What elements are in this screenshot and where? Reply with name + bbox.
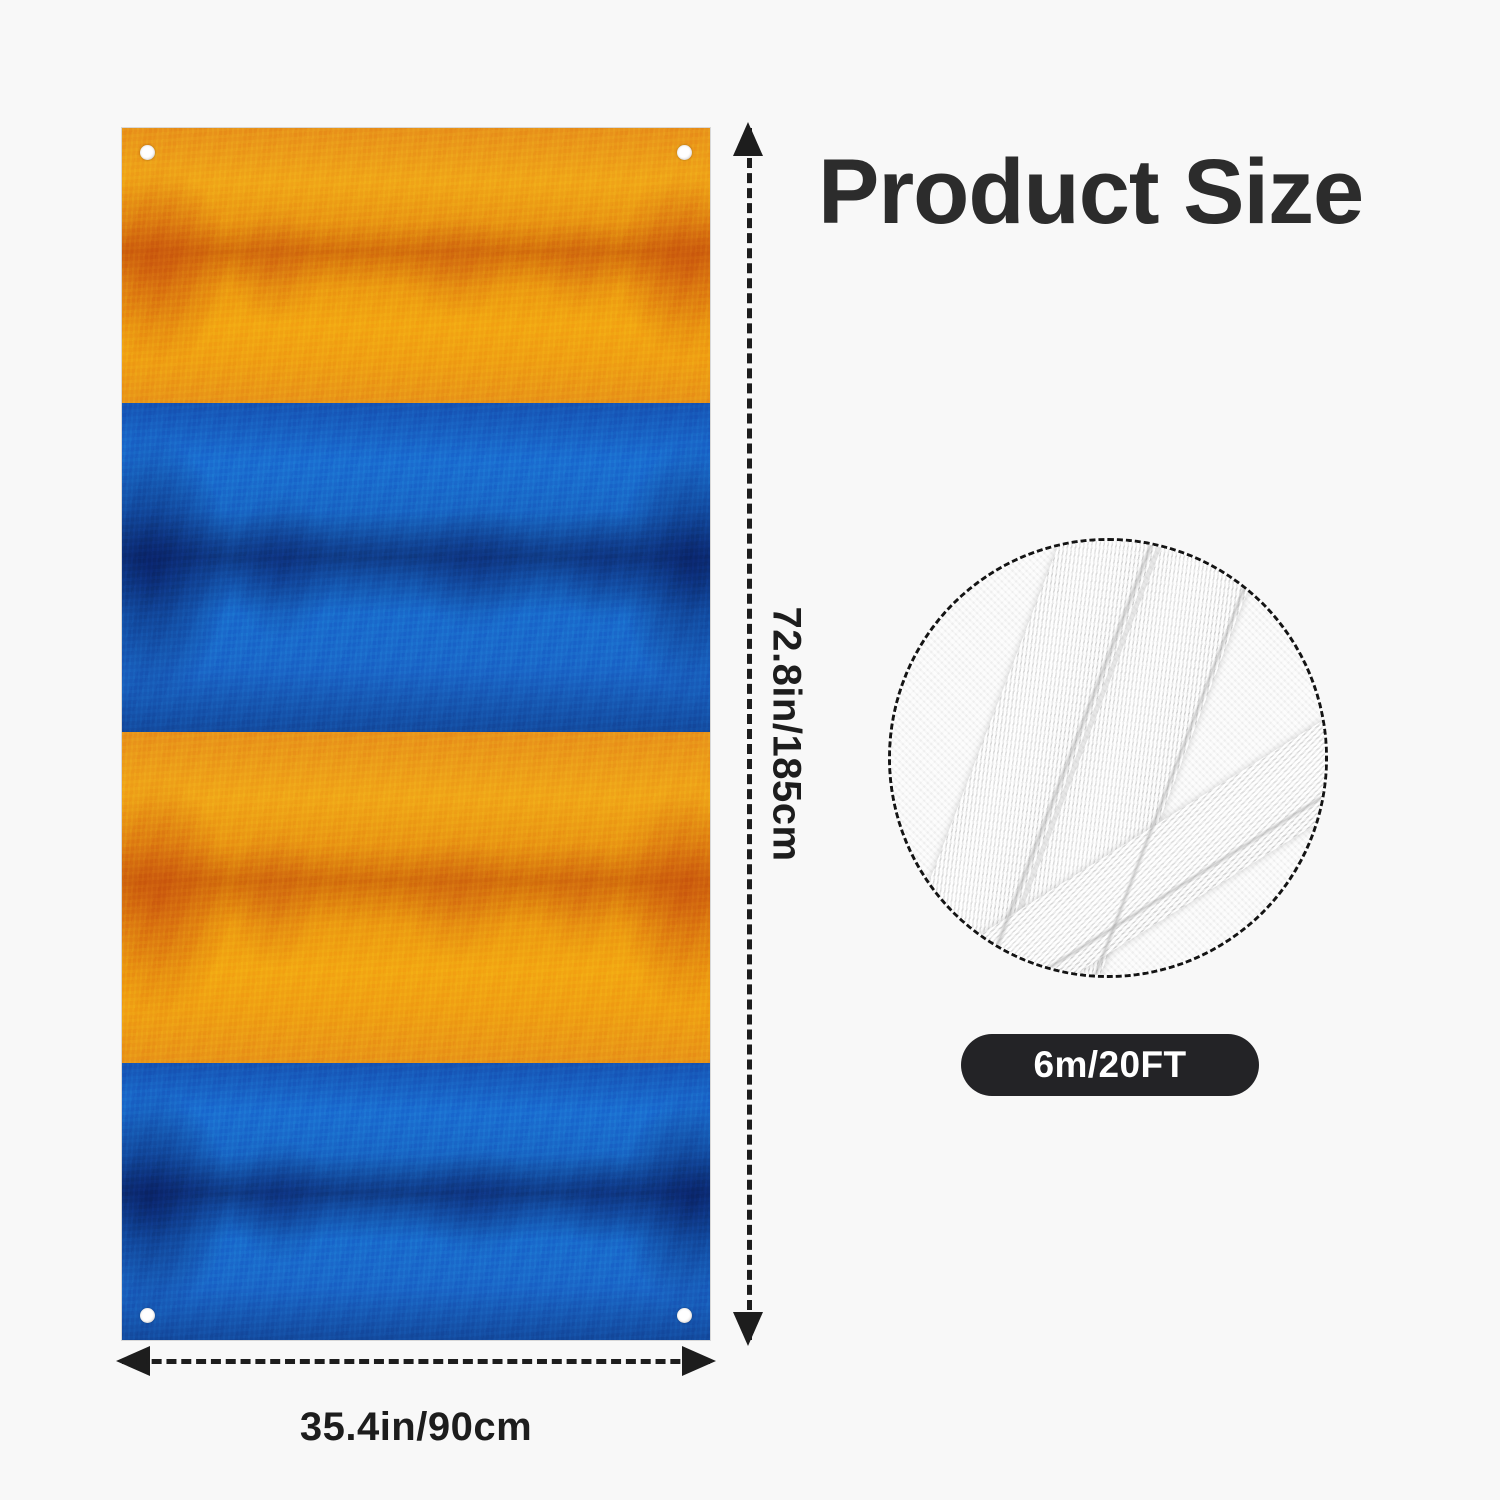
rope-detail-circle: [888, 538, 1328, 978]
rope-length-label: 6m/20FT: [1034, 1044, 1187, 1086]
height-dimension-label: 72.8in/185cm: [764, 606, 809, 861]
fabric-texture-overlay: [122, 1063, 710, 1340]
grommet-icon-bottom-right: [677, 1308, 692, 1323]
banner-band-blue-1: [122, 403, 710, 732]
grommet-icon-top-left: [140, 145, 155, 160]
arrow-right-icon: [682, 1346, 716, 1376]
fabric-texture-overlay: [122, 128, 710, 403]
rope-length-badge: 6m/20FT: [961, 1034, 1259, 1096]
page-title: Product Size: [818, 140, 1363, 245]
width-dimension-label: 35.4in/90cm: [300, 1405, 532, 1450]
arrow-down-icon: [733, 1312, 763, 1346]
fabric-texture-overlay: [122, 732, 710, 1063]
width-dimension-line: [122, 1359, 710, 1364]
banner-band-blue-2: [122, 1063, 710, 1340]
banner-band-orange-1: [122, 128, 710, 403]
product-banner-image: [122, 128, 710, 1340]
grommet-icon-top-right: [677, 145, 692, 160]
infographic-canvas: 72.8in/185cm 35.4in/90cm Product Size 6m…: [0, 0, 1500, 1500]
banner-band-orange-2: [122, 732, 710, 1063]
height-dimension-line: [747, 128, 752, 1340]
grommet-icon-bottom-left: [140, 1308, 155, 1323]
fabric-texture-overlay: [122, 403, 710, 732]
rope-detail-image: [888, 538, 1328, 978]
